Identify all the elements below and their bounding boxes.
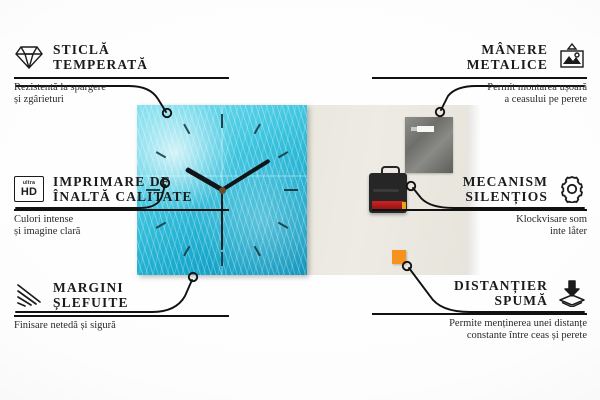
callout-silent-mechanism: MECANISM SILENȚIOS Klockvisare som inte … [372, 172, 587, 239]
callout-subtitle: Permit montarea ușoară a ceasului pe per… [372, 82, 587, 107]
callout-title: DISTANȚIER SPUMĂ [454, 278, 548, 308]
clock-tick [278, 222, 289, 229]
diamond-icon [14, 42, 44, 72]
infographic-canvas: STICLĂ TEMPERATĂ Rezistentă la spargere … [0, 0, 600, 400]
callout-tempered-glass: STICLĂ TEMPERATĂ Rezistentă la spargere … [14, 40, 229, 107]
clock-tick [221, 114, 223, 128]
callout-hd-print: ultra HD IMPRIMARE DE ÎNALTĂ CALITATE Cu… [14, 172, 229, 239]
arrow-down-stack-icon [557, 278, 587, 308]
callout-title: IMPRIMARE DE ÎNALTĂ CALITATE [53, 174, 193, 204]
callout-subtitle: Permite menținerea unei distanțe constan… [372, 318, 587, 343]
callout-divider [14, 209, 229, 211]
callout-header: ultra HD IMPRIMARE DE ÎNALTĂ CALITATE [14, 172, 229, 206]
callout-header: MECANISM SILENȚIOS [372, 172, 587, 206]
gear-icon [557, 174, 587, 204]
callout-subtitle: Klockvisare som inte låter [372, 214, 587, 239]
foam-spacer [392, 250, 406, 264]
callout-divider [372, 209, 587, 211]
callout-header: MARGINI ȘLEFUITE [14, 278, 229, 312]
callout-foam-spacer: DISTANȚIER SPUMĂ Permite menținerea unei… [372, 276, 587, 343]
clock-tick [284, 189, 298, 191]
callout-title: MARGINI ȘLEFUITE [53, 280, 129, 310]
clock-tick [183, 124, 190, 135]
ultra-hd-icon: ultra HD [14, 174, 44, 204]
clock-tick [254, 124, 261, 135]
ultra-hd-icon-label-large: HD [21, 187, 37, 198]
callout-title: MECANISM SILENȚIOS [463, 174, 548, 204]
callout-header: STICLĂ TEMPERATĂ [14, 40, 229, 74]
callout-title: STICLĂ TEMPERATĂ [53, 42, 148, 72]
callout-divider [372, 313, 587, 315]
clock-tick [156, 151, 167, 158]
callout-divider [372, 77, 587, 79]
clock-tick [221, 252, 223, 266]
callout-metal-handles: MÂNERE METALICE Permit montarea ușoară a… [372, 40, 587, 107]
ultra-hd-icon-label-small: ultra [23, 181, 35, 186]
clock-tick [254, 246, 261, 257]
callout-polished-edges: MARGINI ȘLEFUITE Finisare netedă și sigu… [14, 278, 229, 332]
hanger-slot [417, 126, 434, 132]
clock-tick [183, 246, 190, 257]
callout-header: DISTANȚIER SPUMĂ [372, 276, 587, 310]
callout-subtitle: Rezistentă la spargere și zgârieturi [14, 82, 229, 107]
clock-tick [278, 151, 289, 158]
callout-divider [14, 77, 229, 79]
polished-edges-icon [14, 280, 44, 310]
callout-subtitle: Finisare netedă și sigură [14, 320, 229, 333]
metal-hanger-plate [405, 117, 453, 173]
callout-title: MÂNERE METALICE [467, 42, 548, 72]
picture-frame-hanger-icon [557, 42, 587, 72]
callout-header: MÂNERE METALICE [372, 40, 587, 74]
callout-subtitle: Culori intense și imagine clară [14, 214, 229, 239]
callout-divider [14, 315, 229, 317]
